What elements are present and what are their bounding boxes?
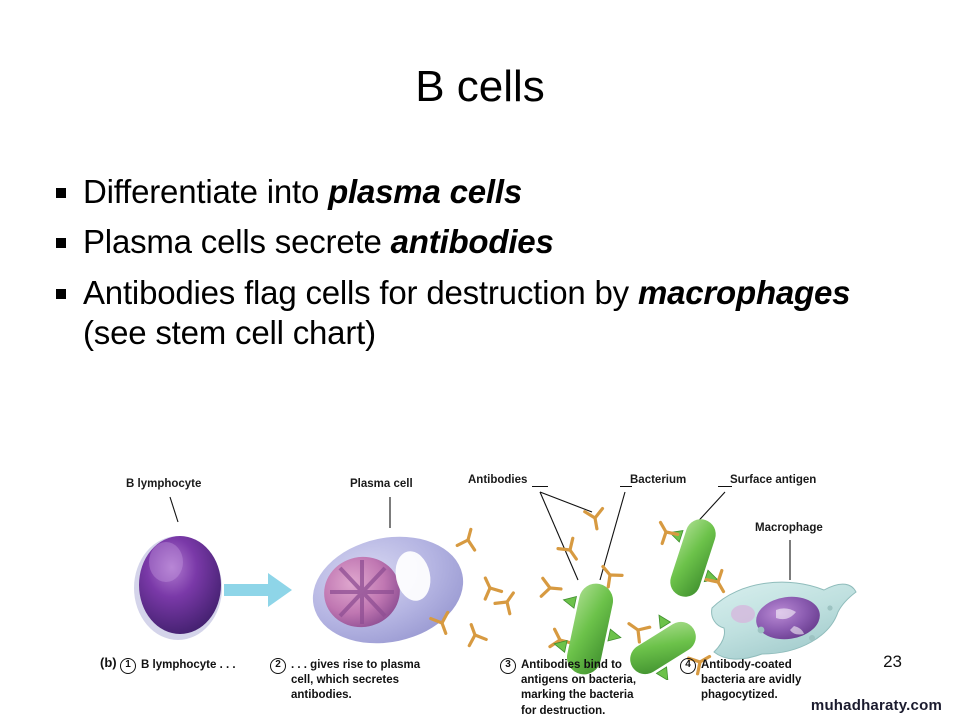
slide-canvas: B cells Differentiate into plasma cells … <box>0 0 960 720</box>
leader-tick-antibodies <box>532 486 548 487</box>
caption-step-3: 3Antibodies bind to antigens on bacteria… <box>500 658 650 719</box>
step-number-2: 2 <box>270 658 286 674</box>
plasma-cell <box>303 523 473 656</box>
label-surface-antigen: Surface antigen <box>730 474 816 486</box>
bullet-text: Differentiate into plasma cells <box>83 172 522 212</box>
bullet-text: Plasma cells secrete antibodies <box>83 222 554 262</box>
leader-lines <box>170 440 860 580</box>
label-plasma-cell: Plasma cell <box>350 478 413 490</box>
caption-step-1: 1B lymphocyte . . . <box>120 658 260 674</box>
bullet-square-icon <box>56 238 66 248</box>
caption-text: Antibodies bind to antigens on bacteria,… <box>521 658 641 719</box>
page-number: 23 <box>883 652 902 672</box>
bullet-square-icon <box>56 289 66 299</box>
b-lymphocyte-cell <box>134 536 222 640</box>
list-item: Plasma cells secrete antibodies <box>56 222 906 262</box>
label-b-lymphocyte: B lymphocyte <box>126 478 201 490</box>
caption-text: Antibody-coated bacteria are avidly phag… <box>701 658 826 704</box>
site-watermark: muhadharaty.com <box>811 697 942 714</box>
label-bacterium: Bacterium <box>630 474 686 486</box>
differentiation-arrow-icon <box>224 573 292 607</box>
caption-text: . . . gives rise to plasma cell, which s… <box>291 658 441 704</box>
bacterium-cell <box>666 515 719 600</box>
leader-tick-surface-antigen <box>718 486 732 487</box>
page-title: B cells <box>0 62 960 112</box>
label-antibodies: Antibodies <box>468 474 527 486</box>
list-item: Antibodies flag cells for destruction by… <box>56 273 906 354</box>
bullet-text: Antibodies flag cells for destruction by… <box>83 273 906 354</box>
bullet-square-icon <box>56 188 66 198</box>
step-number-4: 4 <box>680 658 696 674</box>
figure-panel-marker: (b) <box>100 655 117 670</box>
immunity-diagram: B lymphocyte Plasma cell Antibodies Bact… <box>100 440 860 680</box>
leader-tick-bacterium <box>620 486 632 487</box>
step-number-3: 3 <box>500 658 516 674</box>
macrophage-cell <box>712 582 856 659</box>
label-macrophage: Macrophage <box>755 522 823 534</box>
step-number-1: 1 <box>120 658 136 674</box>
caption-text: B lymphocyte . . . <box>141 658 236 673</box>
bullet-list: Differentiate into plasma cells Plasma c… <box>56 172 906 363</box>
caption-step-2: 2. . . gives rise to plasma cell, which … <box>270 658 450 704</box>
list-item: Differentiate into plasma cells <box>56 172 906 212</box>
